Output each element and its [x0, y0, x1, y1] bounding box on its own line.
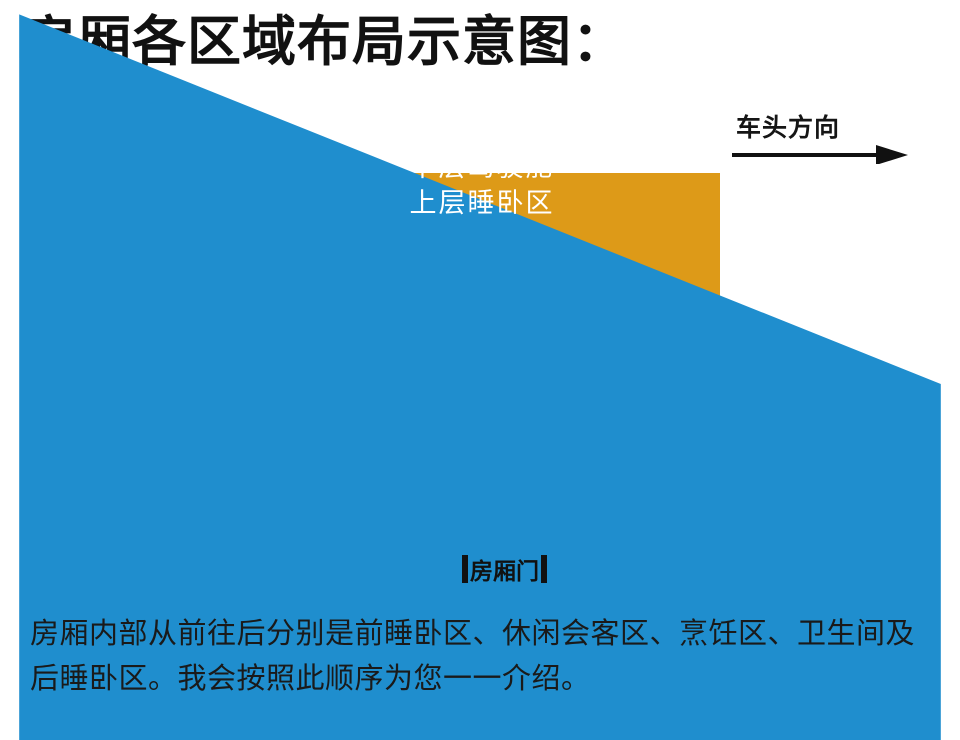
caption-text: 房厢内部从前往后分别是前睡卧区、休闲会客区、烹饪区、卫生间及后睡卧区。我会按照此…	[30, 612, 935, 702]
cabin-layout-diagram: 睡卧区 卫生间 休闲会客区 过道 烹饪区 下层驾驶舱 上层睡卧区	[0, 0, 960, 600]
cab-label-line-1: 下层驾驶舱	[8, 150, 956, 186]
zone-driver-cab[interactable]: 下层驾驶舱 上层睡卧区	[0, 0, 200, 380]
door-label: 房厢门	[468, 552, 541, 586]
diagram-page: 房厢各区域布局示意图： 车头方向 睡卧区 卫生间 休闲会客区 过道 烹饪区	[0, 0, 960, 740]
cab-label-line-2: 上层睡卧区	[8, 186, 956, 222]
zone-label-driver-cab: 下层驾驶舱 上层睡卧区	[8, 150, 956, 221]
door-bracket-right-icon	[541, 555, 547, 583]
cabin-door-marker[interactable]: 房厢门	[462, 552, 547, 586]
